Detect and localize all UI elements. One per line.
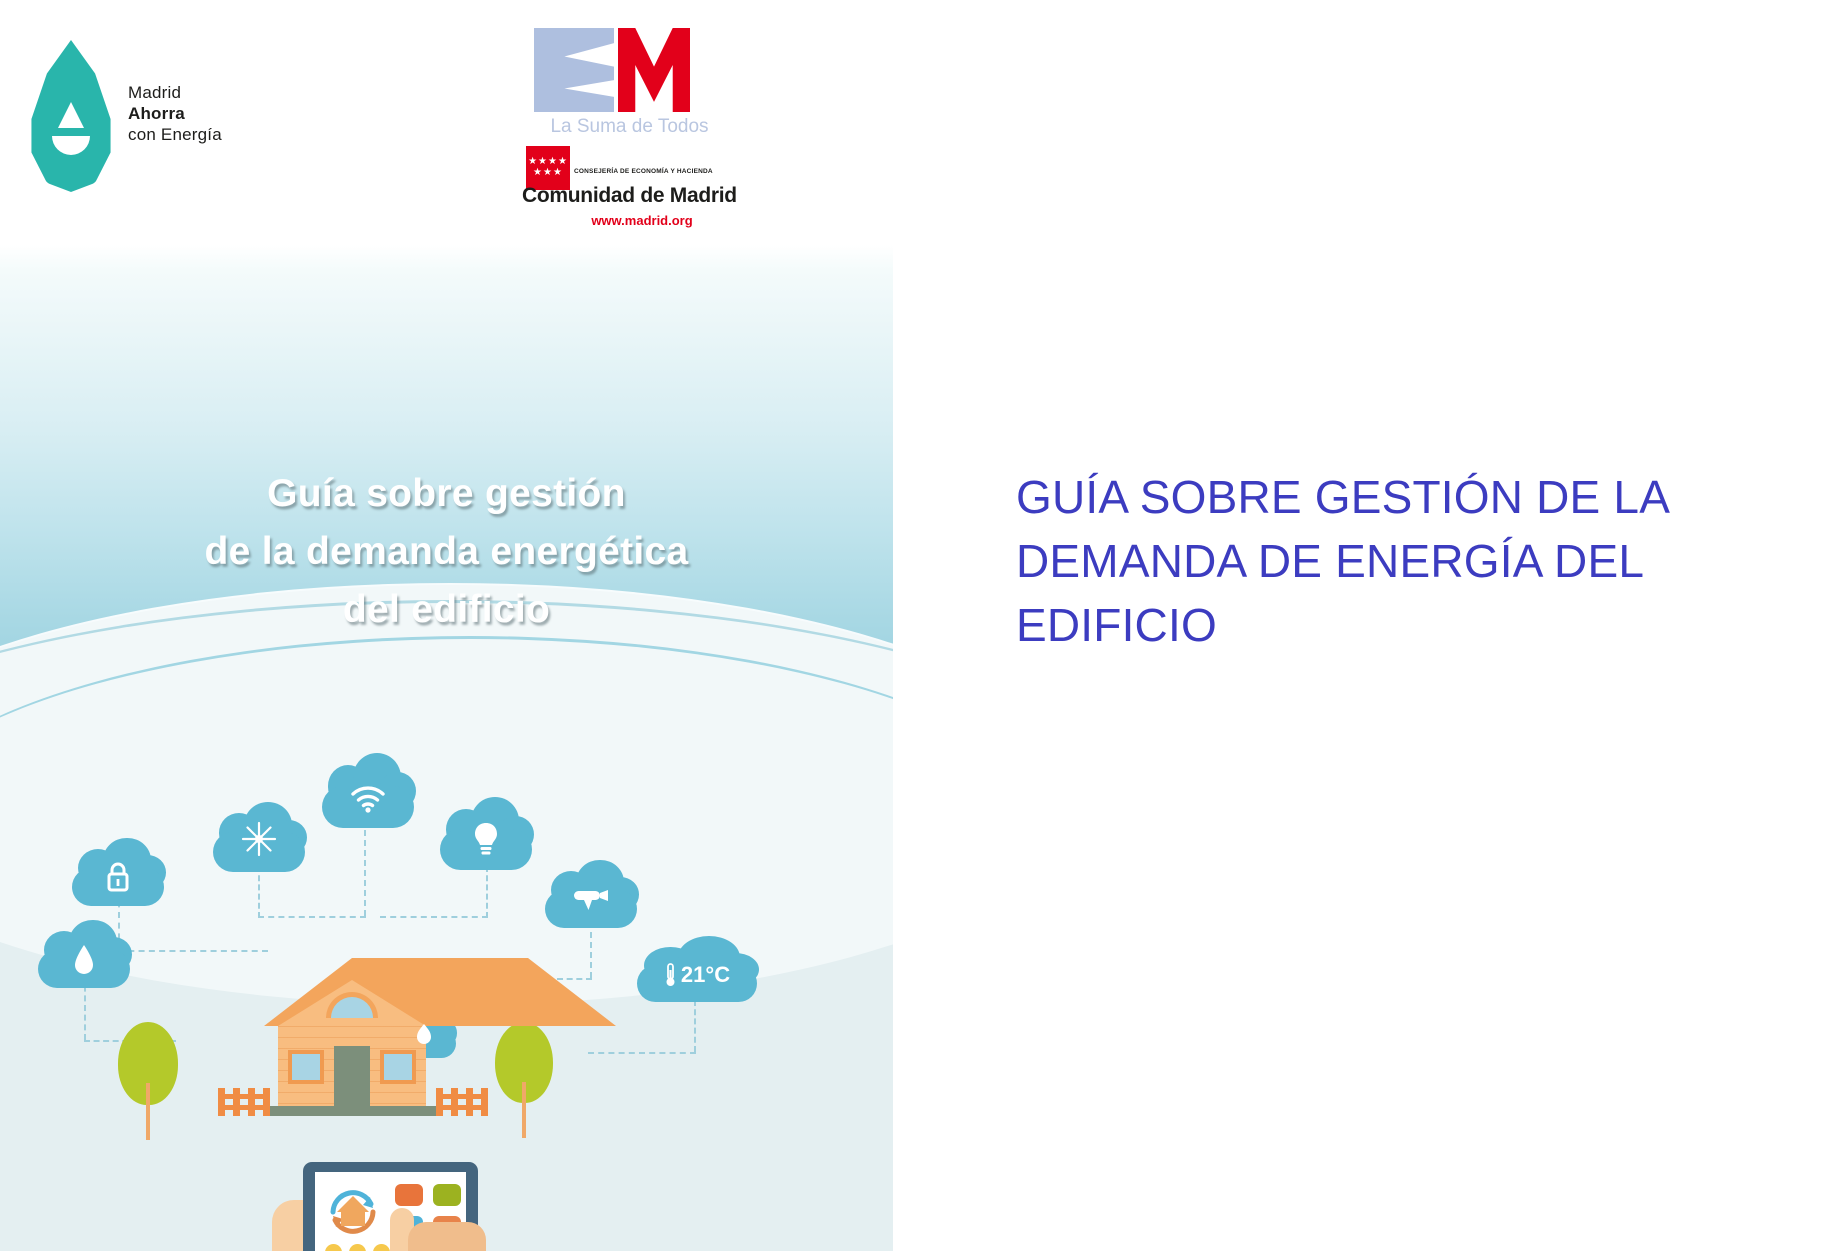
cover-title-line-3: del edificio [0, 581, 893, 639]
cover-title-line-1: Guía sobre gestión [0, 465, 893, 523]
tree-right [495, 1022, 553, 1138]
comunidad-de-madrid-logo: ★★★★ ★★★★ La Suma de Todos ★★★★★★★ CONSE… [512, 28, 727, 226]
logo-line-ahorra: Ahorra [128, 104, 185, 123]
stars-row-top: ★★★★ [692, 32, 726, 42]
connector-temp-v [694, 1000, 696, 1052]
cover-title-line-2: de la demanda energética [0, 523, 893, 581]
house-refresh-icon [323, 1182, 383, 1238]
house-window-right [380, 1050, 416, 1084]
connector-temp-h [588, 1052, 696, 1054]
house-door [334, 1046, 370, 1108]
connector-wifi [364, 830, 366, 916]
cover-logo-band: Madrid Ahorra con Energía ★★★★ ★★★★ La S… [0, 0, 893, 250]
consejeria-label: CONSEJERÍA DE ECONOMÍA Y HACIENDA [574, 168, 713, 175]
monogram-m-icon [618, 28, 690, 112]
madrid-website-url: www.madrid.org [562, 213, 722, 228]
logo-line-con-energia: con Energía [128, 124, 222, 145]
water-drop-icon [38, 943, 130, 982]
hand-right-palm [408, 1222, 486, 1251]
security-camera-icon [545, 886, 637, 919]
fence-right [436, 1088, 488, 1116]
stars-row-bottom: ★★★★ [692, 42, 726, 52]
cloud-wifi [322, 760, 414, 828]
page-dot-3[interactable] [373, 1244, 390, 1251]
monogram-e-icon [534, 28, 614, 112]
sun-rays-icon [213, 821, 305, 864]
document-cover-image: Madrid Ahorra con Energía ★★★★ ★★★★ La S… [0, 0, 893, 1251]
flame-icon [392, 1022, 456, 1053]
connector-lock-h [118, 950, 268, 952]
madrid-ahorra-logo-text: Madrid Ahorra con Energía [128, 82, 222, 145]
lock-icon [72, 860, 164, 899]
monogram-stars-icon: ★★★★ ★★★★ [692, 32, 726, 56]
cover-title: Guía sobre gestión de la demanda energét… [0, 465, 893, 639]
logo-line-madrid: Madrid [128, 82, 222, 103]
cloud-lock [72, 844, 164, 906]
connector-sun-h [258, 916, 366, 918]
house-window-left [288, 1050, 324, 1084]
connector-sun-v [258, 866, 260, 918]
cloud-temperature: 21°C [637, 942, 757, 1002]
em-monogram: ★★★★ ★★★★ [534, 28, 710, 112]
seal-stars-icon: ★★★★★★★ [526, 156, 570, 178]
page-dot-2[interactable] [349, 1244, 366, 1251]
wifi-icon [322, 783, 414, 818]
tree-left [118, 1022, 178, 1140]
comunidad-de-madrid-label: Comunidad de Madrid [522, 184, 730, 208]
app-tile-2[interactable] [433, 1184, 461, 1206]
page-dot-1[interactable] [325, 1244, 342, 1251]
lightbulb-icon [440, 818, 532, 863]
thermometer-icon: 21°C [637, 962, 757, 988]
madrid-ahorra-logo [28, 40, 114, 192]
right-content-pane: GUÍA SOBRE GESTIÓN DE LA DEMANDA DE ENER… [893, 0, 1847, 1251]
drop-triangle-shape [58, 102, 84, 128]
cloud-water [38, 926, 130, 988]
fence-left [218, 1088, 270, 1116]
madrid-slogan: La Suma de Todos [532, 116, 727, 137]
cloud-bulb [440, 804, 532, 870]
temperature-value: 21°C [681, 962, 730, 988]
house-foundation [268, 1106, 436, 1116]
connector-bulb-v [486, 866, 488, 918]
app-tile-1[interactable] [395, 1184, 423, 1206]
cloud-sun [213, 808, 305, 872]
cloud-camera [545, 866, 637, 928]
connector-bulb-h [380, 916, 488, 918]
smart-home-illustration: 21°C [0, 770, 893, 1251]
document-heading: GUÍA SOBRE GESTIÓN DE LA DEMANDA DE ENER… [1016, 465, 1806, 657]
